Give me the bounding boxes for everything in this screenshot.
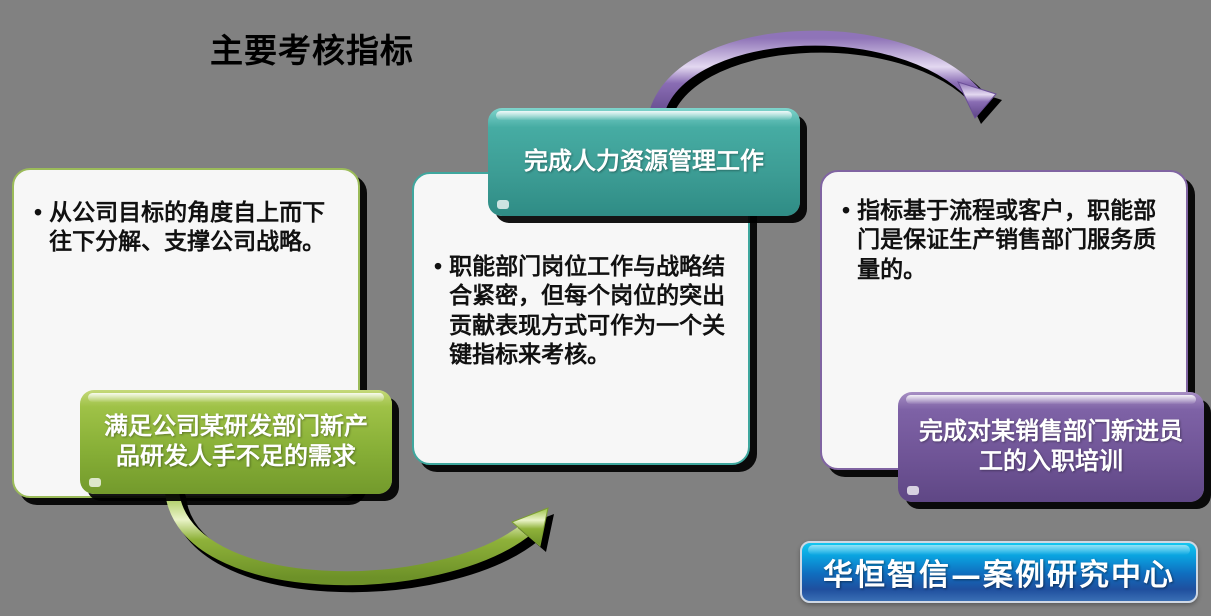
info-card-left-body: • 从公司目标的角度自上而下往下分解、支撑公司战略。 — [14, 198, 358, 257]
bullet-item: • 指标基于流程或客户，职能部门是保证生产销售部门服务质量的。 — [842, 196, 1170, 284]
info-card-middle-body: • 职能部门岗位工作与战略结合紧密，但每个岗位的突出贡献表现方式可作为一个关键指… — [414, 252, 748, 370]
callout-green-text: 满足公司某研发部门新产品研发人手不足的需求 — [94, 412, 378, 472]
callout-purple-text: 完成对某销售部门新进员工的入职培训 — [912, 417, 1190, 477]
callout-teal: 完成人力资源管理工作 — [488, 108, 800, 216]
green-arrowhead-icon — [512, 508, 548, 546]
bullet-marker-icon: • — [434, 252, 442, 281]
callout-teal-text: 完成人力资源管理工作 — [524, 147, 764, 177]
info-card-left-text: 从公司目标的角度自上而下往下分解、支撑公司战略。 — [49, 198, 342, 257]
footer-banner: 华恒智信—案例研究中心 — [800, 541, 1198, 603]
info-card-right-body: • 指标基于流程或客户，职能部门是保证生产销售部门服务质量的。 — [822, 196, 1186, 284]
callout-green: 满足公司某研发部门新产品研发人手不足的需求 — [80, 390, 392, 494]
purple-arrowhead-icon — [958, 82, 996, 118]
bullet-item: • 从公司目标的角度自上而下往下分解、支撑公司战略。 — [34, 198, 342, 257]
green-arrowhead-shadow — [518, 514, 554, 552]
info-card-middle-text: 职能部门岗位工作与战略结合紧密，但每个岗位的突出贡献表现方式可作为一个关键指标来… — [449, 252, 732, 370]
green-arrow-shadow — [178, 498, 534, 584]
bullet-marker-icon: • — [842, 196, 850, 225]
page-title: 主要考核指标 — [210, 24, 414, 72]
green-arrow-arc — [172, 492, 528, 578]
bullet-item: • 职能部门岗位工作与战略结合紧密，但每个岗位的突出贡献表现方式可作为一个关键指… — [434, 252, 732, 370]
info-card-right-text: 指标基于流程或客户，职能部门是保证生产销售部门服务质量的。 — [857, 196, 1170, 284]
callout-purple: 完成对某销售部门新进员工的入职培训 — [898, 392, 1204, 502]
purple-arrowhead-shadow — [964, 88, 1002, 124]
slide-canvas: 主要考核指标 • 从公司目标的角度自上而下往下分解、支撑公司战略。 • 职能部门… — [0, 0, 1211, 616]
footer-banner-text: 华恒智信—案例研究中心 — [823, 550, 1175, 594]
bullet-marker-icon: • — [34, 198, 42, 227]
